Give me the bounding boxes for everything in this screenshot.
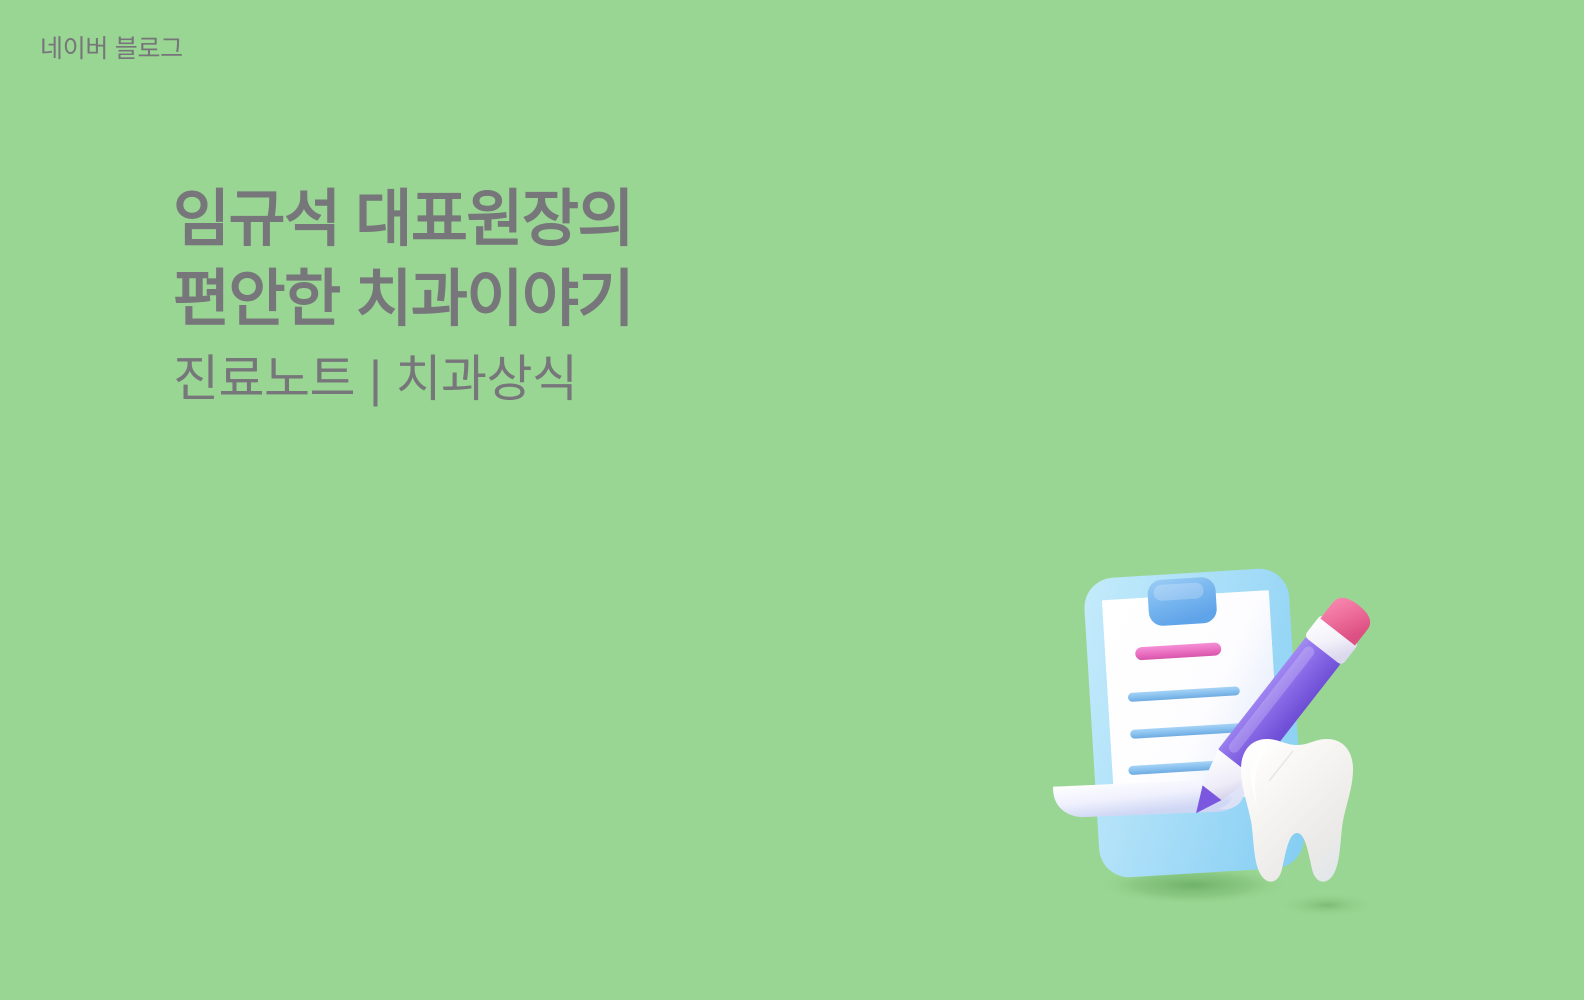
service-label: 네이버 블로그	[40, 34, 183, 64]
subheading-divider: |	[355, 348, 396, 410]
subheading-left: 진료노트	[173, 351, 355, 407]
subheading-right: 치과상식	[396, 351, 578, 407]
subheading: 진료노트|치과상식	[173, 348, 933, 410]
clipboard-pencil-tooth-illustration	[1035, 545, 1435, 945]
headline-line-1: 임규석 대표원장의	[173, 180, 933, 260]
headline-block: 임규석 대표원장의 편안한 치과이야기 진료노트|치과상식	[173, 180, 933, 410]
tooth	[1241, 739, 1353, 882]
tooth-shadow	[1275, 892, 1379, 918]
headline-line-2: 편안한 치과이야기	[173, 260, 933, 340]
clipboard-clip-highlight	[1153, 582, 1204, 601]
blog-banner: 네이버 블로그 임규석 대표원장의 편안한 치과이야기 진료노트|치과상식	[0, 0, 1584, 1000]
